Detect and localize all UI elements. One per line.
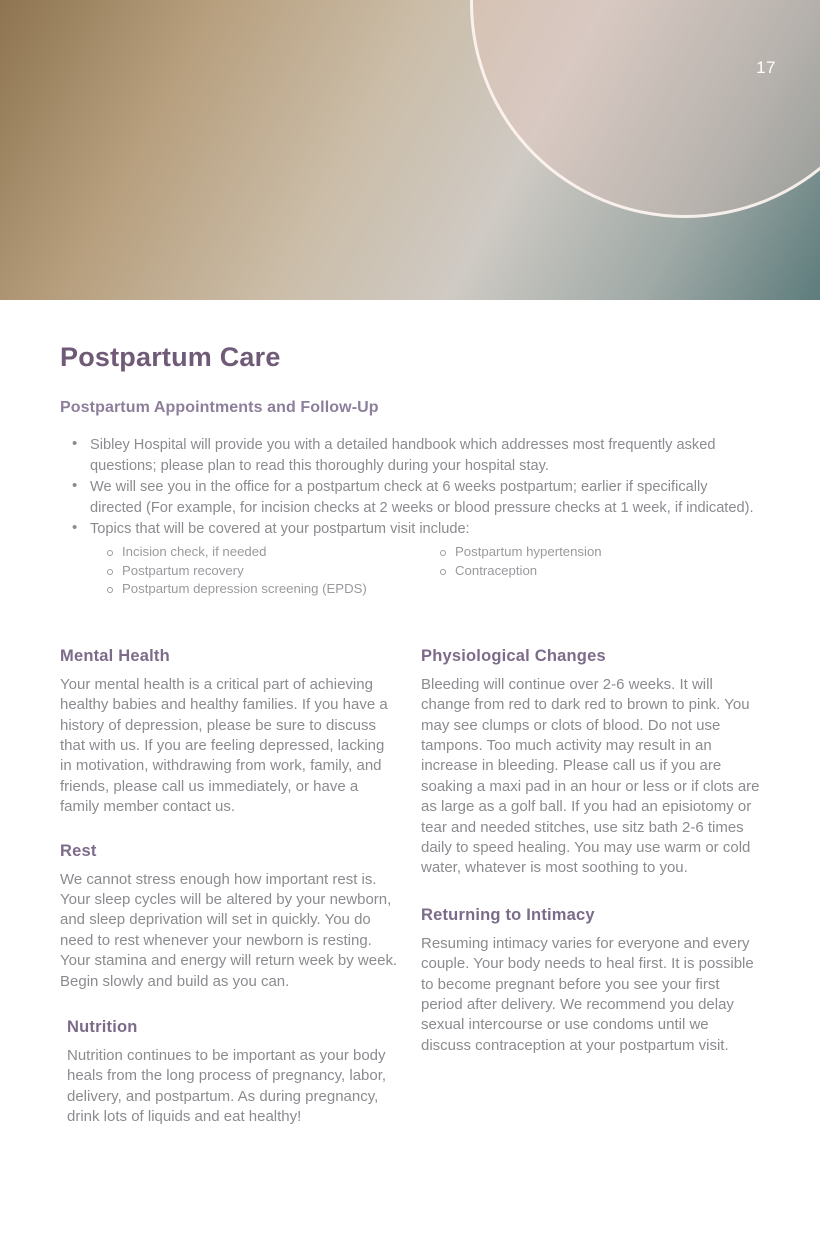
page-title: Postpartum Care (60, 342, 760, 373)
postpartum-visit-topics: Incision check, if needed Postpartum rec… (60, 543, 760, 599)
section-rest: Rest We cannot stress enough how importa… (60, 842, 399, 992)
list-item: Incision check, if needed (94, 543, 427, 562)
page: 17 Postpartum Care Postpartum Appointmen… (0, 0, 820, 1239)
section-physiological-changes: Physiological Changes Bleeding will cont… (421, 647, 760, 879)
section-heading: Physiological Changes (421, 647, 760, 666)
section-subheading-appointments: Postpartum Appointments and Follow-Up (60, 399, 760, 417)
two-column-body: Mental Health Your mental health is a cr… (60, 647, 760, 1128)
section-heading: Mental Health (60, 647, 399, 666)
section-heading: Returning to Intimacy (421, 906, 760, 925)
list-item: Postpartum recovery (94, 562, 427, 581)
hero-banner: 17 (0, 0, 820, 300)
section-paragraph: Resuming intimacy varies for everyone an… (421, 934, 760, 1056)
list-item: Contraception (427, 562, 760, 581)
section-mental-health: Mental Health Your mental health is a cr… (60, 647, 399, 818)
page-number: 17 (756, 58, 776, 78)
topics-list-left: Incision check, if needed Postpartum rec… (94, 543, 427, 599)
section-nutrition: Nutrition Nutrition continues to be impo… (60, 1018, 399, 1128)
section-paragraph: Nutrition continues to be important as y… (67, 1046, 399, 1128)
section-paragraph: Bleeding will continue over 2-6 weeks. I… (421, 675, 760, 879)
page-content: Postpartum Care Postpartum Appointments … (0, 300, 820, 1128)
section-paragraph: We cannot stress enough how important re… (60, 870, 399, 992)
section-paragraph: Your mental health is a critical part of… (60, 675, 399, 818)
topics-column-left: Incision check, if needed Postpartum rec… (94, 543, 427, 599)
body-column-left: Mental Health Your mental health is a cr… (60, 647, 399, 1128)
list-item: Sibley Hospital will provide you with a … (60, 435, 760, 476)
section-returning-to-intimacy: Returning to Intimacy Resuming intimacy … (421, 906, 760, 1056)
section-heading: Rest (60, 842, 399, 861)
list-item: Postpartum hypertension (427, 543, 760, 562)
list-item: Postpartum depression screening (EPDS) (94, 580, 427, 599)
list-item: Topics that will be covered at your post… (60, 519, 760, 540)
section-heading: Nutrition (67, 1018, 399, 1037)
list-item: We will see you in the office for a post… (60, 477, 760, 518)
appointments-bullet-list: Sibley Hospital will provide you with a … (60, 435, 760, 540)
topics-list-right: Postpartum hypertension Contraception (427, 543, 760, 580)
body-column-right: Physiological Changes Bleeding will cont… (421, 647, 760, 1128)
topics-column-right: Postpartum hypertension Contraception (427, 543, 760, 599)
